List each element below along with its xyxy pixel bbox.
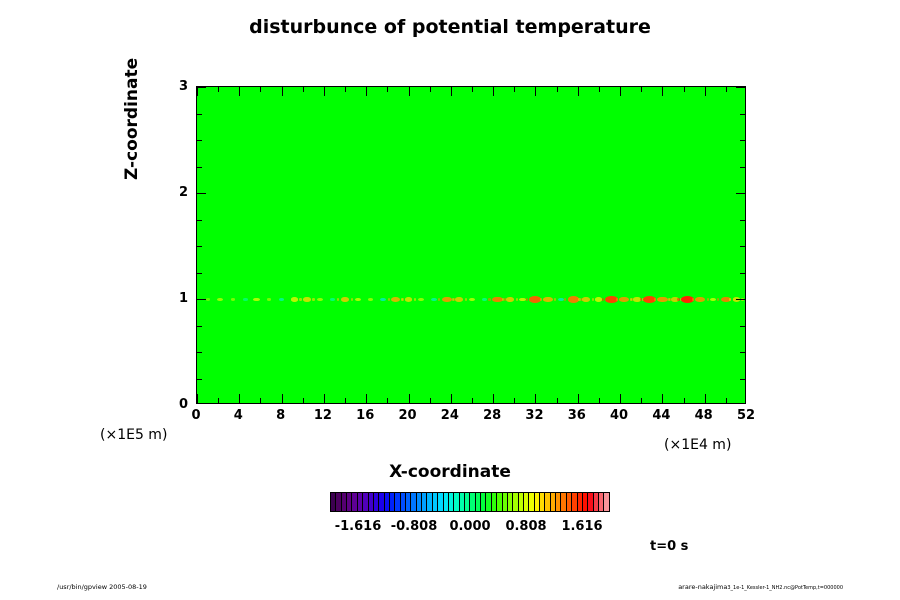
x-axis-tick-label: 0 (179, 409, 213, 422)
y-axis-tick (740, 167, 745, 168)
colorbar-cell (604, 493, 608, 511)
disturbance-speckle (592, 298, 594, 300)
disturbance-speckle (368, 298, 373, 301)
disturbance-speckle (543, 297, 552, 302)
disturbance-speckle (469, 298, 475, 301)
y-axis-tick-label: 2 (166, 186, 188, 199)
disturbance-speckle (654, 298, 656, 300)
x-axis-tick (726, 398, 727, 403)
disturbance-speckle (558, 298, 564, 301)
x-axis-tick (493, 87, 494, 96)
disturbance-speckle (231, 298, 236, 301)
y-axis-tick (736, 299, 745, 300)
disturbance-speckle (303, 297, 311, 301)
x-axis-tick (620, 87, 621, 96)
x-axis-tick (535, 87, 536, 96)
disturbance-speckle (351, 298, 353, 300)
x-axis-tick-labels: 0481216202428323640444852 (196, 409, 746, 427)
y-axis-unit-label: (×1E5 m) (100, 427, 167, 443)
disturbance-speckle (330, 298, 335, 301)
y-axis-tick (197, 299, 206, 300)
x-axis-tick (451, 87, 452, 96)
y-axis-tick-labels: 0123 (162, 86, 188, 404)
disturbance-speckle (312, 298, 314, 300)
disturbance-speckle (564, 298, 566, 300)
disturbance-speckle (355, 298, 361, 302)
y-axis-tick (197, 246, 202, 247)
x-axis-tick (345, 87, 346, 92)
x-axis-tick (599, 87, 600, 92)
x-axis-tick (197, 394, 198, 403)
x-axis-tick (451, 394, 452, 403)
x-axis-tick (366, 87, 367, 96)
x-axis-tick (197, 87, 198, 96)
disturbance-speckle (506, 297, 515, 302)
x-axis-tick (620, 394, 621, 403)
colorbar-tick-label: -1.616 (328, 520, 388, 534)
x-axis-tick (239, 87, 240, 96)
disturbance-speckle (488, 298, 490, 300)
disturbance-speckle (729, 298, 731, 300)
x-axis-title: X-coordinate (0, 462, 900, 482)
disturbance-speckle (554, 298, 556, 300)
x-axis-tick (430, 398, 431, 403)
x-axis-tick (303, 87, 304, 92)
y-axis-tick (197, 193, 206, 194)
disturbance-speckle (341, 297, 350, 302)
disturbance-speckle (243, 298, 247, 301)
disturbance-speckle (482, 298, 487, 301)
disturbance-speckle (317, 298, 323, 301)
x-axis-tick (303, 398, 304, 403)
footer-right-text: arare-nakajima3_1e-1_Kessler-1_NH2.nc@Po… (678, 583, 843, 591)
disturbance-speckle (619, 297, 629, 302)
x-axis-tick (324, 87, 325, 96)
y-axis-title: Z-coordinate (122, 58, 142, 180)
y-axis-tick-label: 1 (166, 292, 188, 305)
disturbance-speckle (431, 298, 436, 301)
x-axis-tick (514, 398, 515, 403)
y-axis-tick (740, 140, 745, 141)
x-axis-tick (535, 394, 536, 403)
footer-right-main: arare-nakajima (678, 583, 727, 591)
x-axis-tick-label: 28 (475, 409, 509, 422)
disturbance-speckle (279, 298, 284, 301)
colorbar-gradient (330, 492, 610, 512)
y-axis-tick (740, 220, 745, 221)
disturbance-speckle (405, 297, 413, 301)
disturbance-speckle (630, 298, 632, 300)
disturbance-speckle (418, 298, 424, 301)
x-axis-tick (514, 87, 515, 92)
disturbance-speckle (380, 298, 386, 301)
disturbance-speckle (253, 298, 260, 302)
y-axis-tick (197, 326, 202, 327)
x-axis-tick (324, 394, 325, 403)
y-axis-tick-label: 3 (166, 80, 188, 93)
disturbance-speckle (452, 298, 454, 300)
disturbance-speckle (414, 298, 416, 300)
disturbance-speckle (337, 298, 339, 300)
x-axis-tick-label: 4 (221, 409, 255, 422)
x-axis-tick (662, 87, 663, 96)
x-axis-tick (599, 398, 600, 403)
disturbance-speckle (455, 297, 463, 302)
x-axis-tick-label: 8 (264, 409, 298, 422)
x-axis-tick (641, 398, 642, 403)
x-axis-tick (493, 394, 494, 403)
y-axis-tick (736, 193, 745, 194)
x-axis-tick-label: 48 (687, 409, 721, 422)
x-axis-tick-label: 16 (348, 409, 382, 422)
disturbance-speckle (602, 298, 604, 300)
x-axis-tick (557, 398, 558, 403)
y-axis-tick (736, 87, 745, 88)
disturbance-speckle (540, 298, 542, 300)
time-annotation: t=0 s (650, 539, 688, 554)
disturbance-band (197, 295, 745, 304)
x-axis-tick (578, 87, 579, 96)
footer-left-text: /usr/bin/gpview 2005-08-19 (57, 583, 147, 591)
page-title: disturbunce of potential temperature (0, 16, 900, 38)
y-axis-tick (197, 273, 202, 274)
x-axis-tick (218, 87, 219, 92)
y-axis-tick (740, 326, 745, 327)
disturbance-speckle (391, 297, 400, 302)
disturbance-speckle (668, 298, 670, 300)
x-axis-tick (726, 87, 727, 92)
x-axis-tick (282, 87, 283, 96)
x-axis-tick-label: 12 (306, 409, 340, 422)
y-axis-tick (197, 220, 202, 221)
x-axis-tick (684, 398, 685, 403)
y-axis-tick (197, 167, 202, 168)
y-axis-tick (197, 114, 202, 115)
colorbar-tick-label: 0.000 (440, 520, 500, 534)
x-axis-tick (641, 87, 642, 92)
footer-right-tail: 3_1e-1_Kessler-1_NH2.nc@PotTemp,t=000000 (727, 585, 843, 591)
disturbance-speckle (692, 298, 694, 300)
x-axis-tick-label: 40 (602, 409, 636, 422)
y-axis-tick (740, 352, 745, 353)
x-axis-tick (684, 87, 685, 92)
disturbance-speckle (695, 297, 705, 303)
y-axis-tick (197, 352, 202, 353)
x-axis-tick-label: 24 (433, 409, 467, 422)
disturbance-speckle (267, 298, 272, 301)
disturbance-speckle (526, 298, 528, 300)
disturbance-speckle (677, 298, 679, 300)
x-axis-tick (387, 398, 388, 403)
x-axis-tick (578, 394, 579, 403)
x-axis-tick (472, 398, 473, 403)
x-axis-tick (705, 87, 706, 96)
disturbance-speckle (657, 297, 667, 303)
x-axis-tick (345, 398, 346, 403)
disturbance-speckle (299, 298, 301, 300)
disturbance-speckle (388, 298, 390, 300)
x-axis-tick (239, 394, 240, 403)
x-axis-tick (430, 87, 431, 92)
x-axis-tick-label: 20 (391, 409, 425, 422)
disturbance-speckle (582, 297, 590, 302)
disturbance-speckle (710, 298, 717, 302)
y-axis-tick (740, 379, 745, 380)
x-axis-tick (557, 87, 558, 92)
x-axis-tick-label: 36 (560, 409, 594, 422)
disturbance-speckle (640, 298, 642, 300)
disturbance-speckle (717, 298, 719, 300)
y-axis-tick (197, 379, 202, 380)
x-axis-tick-label: 44 (644, 409, 678, 422)
plot-area[interactable] (196, 86, 746, 404)
disturbance-speckle (616, 298, 618, 300)
disturbance-speckle (502, 298, 504, 300)
colorbar-tick-label: -0.808 (384, 520, 444, 534)
x-axis-tick (218, 398, 219, 403)
y-axis-tick (197, 87, 206, 88)
x-axis-tick (366, 394, 367, 403)
x-axis-tick-label: 52 (729, 409, 763, 422)
y-axis-tick (740, 246, 745, 247)
heatmap-field (197, 87, 745, 403)
x-axis-tick (409, 87, 410, 96)
disturbance-speckle (438, 298, 440, 300)
x-axis-tick (662, 394, 663, 403)
y-axis-tick (740, 273, 745, 274)
y-axis-tick (197, 140, 202, 141)
colorbar-tick-label: 1.616 (552, 520, 612, 534)
disturbance-speckle (465, 298, 467, 300)
x-axis-tick (705, 394, 706, 403)
x-axis-tick (472, 87, 473, 92)
x-axis-tick (409, 394, 410, 403)
disturbance-speckle (442, 297, 452, 303)
x-axis-tick (387, 87, 388, 92)
y-axis-tick (740, 114, 745, 115)
x-axis-tick (282, 394, 283, 403)
x-axis-unit-label: (×1E4 m) (664, 437, 731, 453)
disturbance-speckle (578, 298, 580, 300)
colorbar-tick-label: 0.808 (496, 520, 556, 534)
disturbance-speckle (217, 298, 223, 302)
x-axis-tick (260, 398, 261, 403)
disturbance-speckle (206, 298, 210, 300)
disturbance-speckle (516, 298, 518, 300)
disturbance-speckle (291, 297, 298, 301)
x-axis-tick (260, 87, 261, 92)
colorbar-tick-labels: -1.616-0.8080.0000.8081.616 (320, 520, 620, 538)
x-axis-tick-label: 32 (517, 409, 551, 422)
disturbance-speckle (707, 298, 709, 300)
colorbar[interactable] (330, 492, 610, 512)
